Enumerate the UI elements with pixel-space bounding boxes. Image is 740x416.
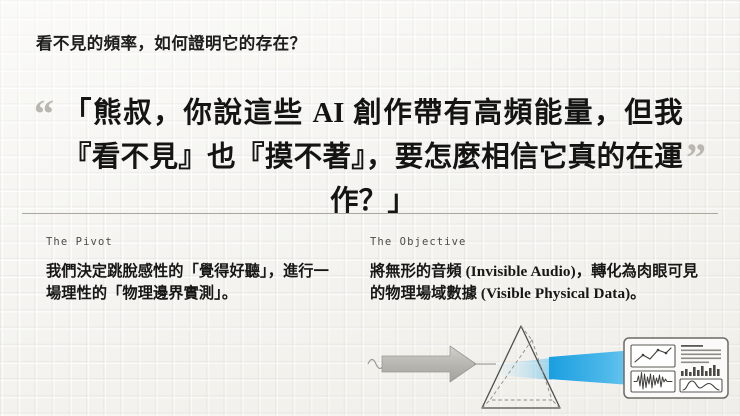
column-pivot-label: The Pivot: [46, 236, 338, 248]
dashboard-card-icon: [624, 338, 728, 398]
slide-root: 看不見的頻率，如何證明它的存在？ “ 「熊叔，你說這些 AI 創作帶有高頻能量，…: [0, 0, 740, 416]
open-quote-mark: “: [34, 94, 54, 134]
close-quote-mark: ”: [686, 138, 706, 178]
quote-text: 「熊叔，你說這些 AI 創作帶有高頻能量，但我『看不見』也『摸不著』，要怎麼相信…: [63, 92, 683, 224]
pull-quote: “ 「熊叔，你說這些 AI 創作帶有高頻能量，但我『看不見』也『摸不著』，要怎麼…: [34, 92, 710, 178]
column-pivot-body: 我們決定跳脫感性的「覺得好聽」，進行一場理性的「物理邊界實測」。: [46, 261, 338, 305]
column-objective-label: The Objective: [370, 236, 700, 248]
curve-panel: [680, 379, 722, 392]
column-objective-body: 將無形的音頻 (Invisible Audio)，轉化為肉眼可見的物理場域數據 …: [370, 261, 700, 305]
column-pivot: The Pivot 我們決定跳脫感性的「覺得好聽」，進行一場理性的「物理邊界實測…: [46, 236, 338, 305]
right-arrow-icon: [382, 346, 476, 382]
section-divider: [22, 213, 718, 214]
column-objective: The Objective 將無形的音頻 (Invisible Audio)，轉…: [370, 236, 700, 305]
prism-diagram: [366, 322, 740, 416]
page-title: 看不見的頻率，如何證明它的存在？: [36, 30, 306, 54]
triangular-prism-icon: [482, 326, 560, 408]
